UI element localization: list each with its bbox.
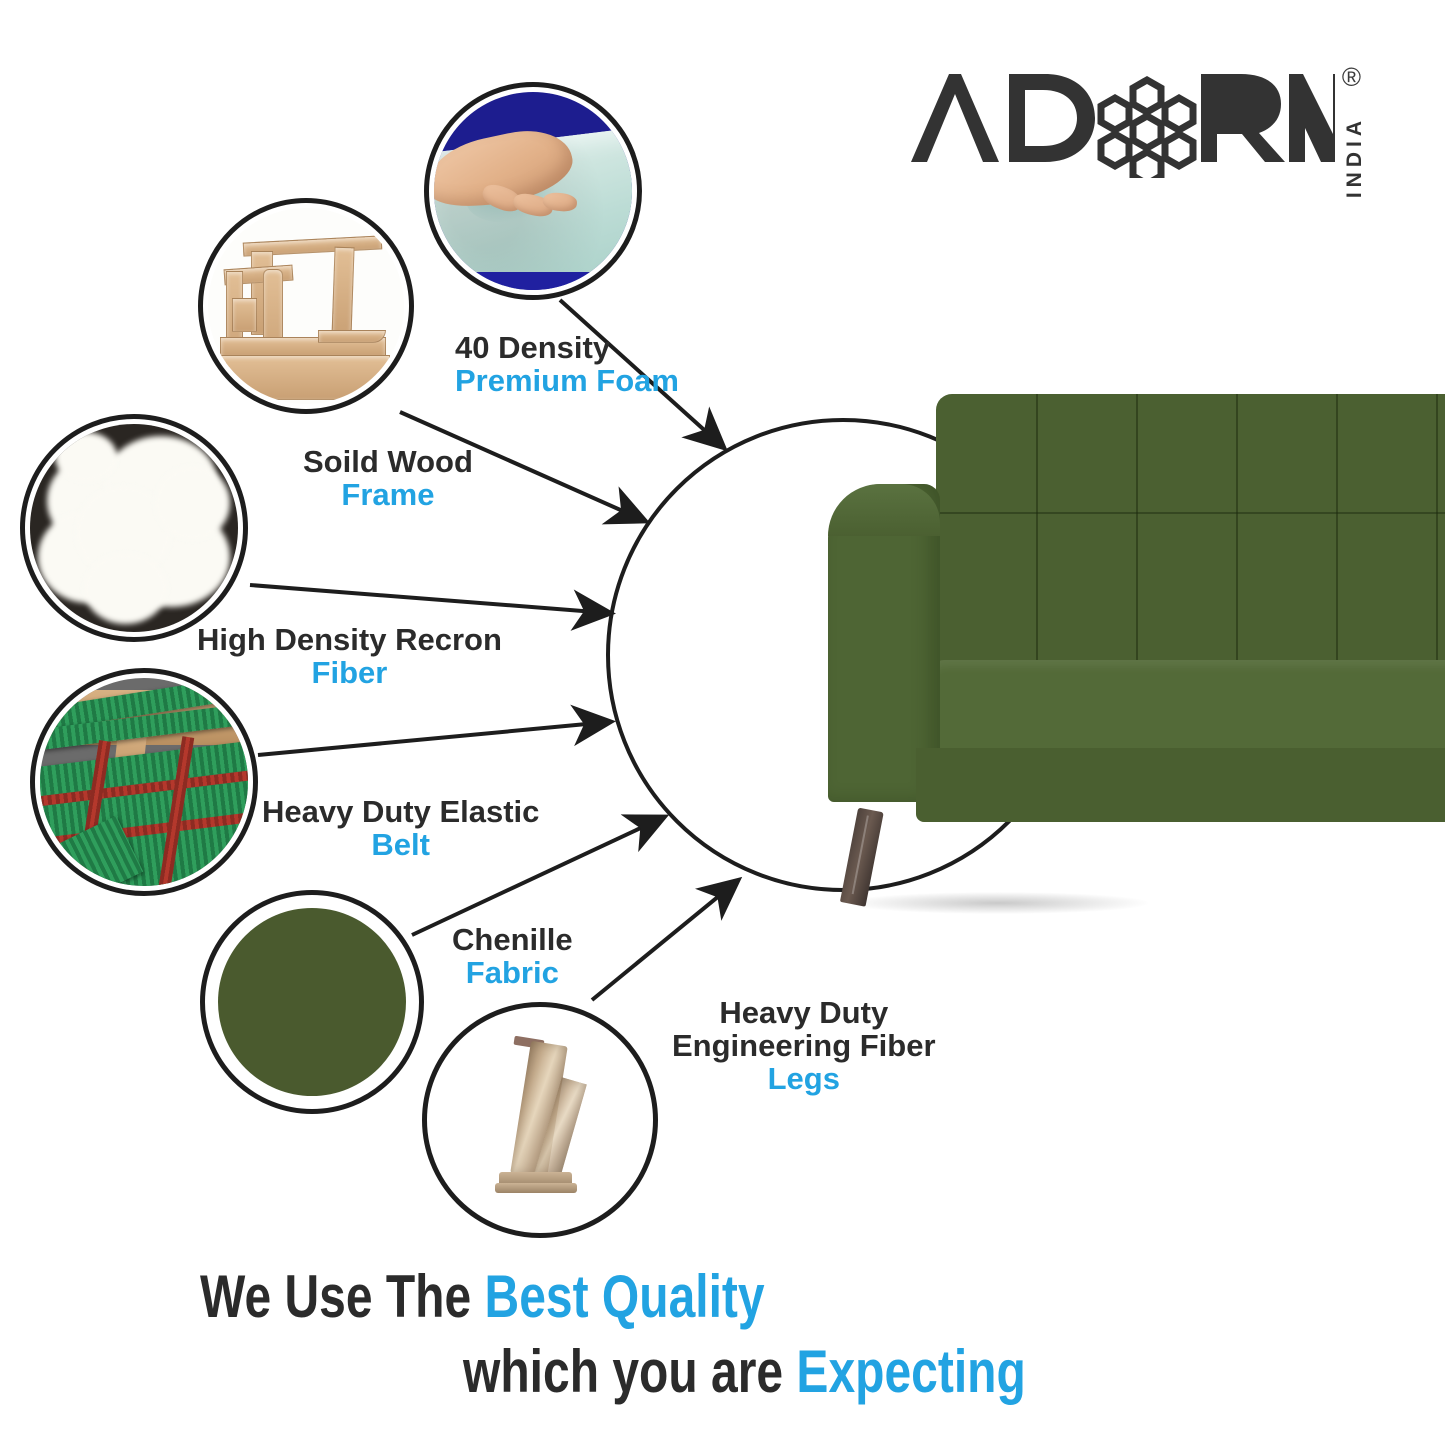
tagline-line-2-highlight: Expecting bbox=[796, 1338, 1025, 1405]
label-solid-wood-frame-highlight: Frame bbox=[303, 479, 473, 512]
label-premium-foam: 40 Density Premium Foam bbox=[455, 332, 679, 398]
infographic-canvas: INDIA ® bbox=[0, 0, 1445, 1445]
arrow-legs bbox=[592, 882, 736, 1000]
label-recron-fiber-line1: High Density Recron bbox=[197, 624, 502, 657]
label-solid-wood-frame-line1: Soild Wood bbox=[303, 446, 473, 479]
label-chenille-fabric-line1: Chenille bbox=[452, 924, 573, 957]
label-elastic-belt: Heavy Duty Elastic Belt bbox=[262, 796, 539, 862]
tagline-line-1: We Use The Best Quality bbox=[200, 1262, 765, 1331]
brand-logo: INDIA ® bbox=[905, 58, 1365, 208]
label-recron-fiber: High Density Recron Fiber bbox=[197, 624, 502, 690]
bubble-chenille-fabric bbox=[200, 890, 424, 1114]
adorn-wordmark-icon bbox=[905, 58, 1335, 178]
label-fiber-legs-highlight: Legs bbox=[672, 1063, 936, 1096]
label-chenille-fabric: Chenille Fabric bbox=[452, 924, 573, 990]
arrow-recron bbox=[250, 585, 608, 613]
tagline-line-2-plain: which you are bbox=[463, 1338, 796, 1405]
tagline-line-1-highlight: Best Quality bbox=[485, 1263, 765, 1330]
label-elastic-belt-highlight: Belt bbox=[262, 829, 539, 862]
label-premium-foam-highlight: Premium Foam bbox=[455, 365, 679, 398]
label-solid-wood-frame: Soild Wood Frame bbox=[303, 446, 473, 512]
label-recron-fiber-highlight: Fiber bbox=[197, 657, 502, 690]
bubble-premium-foam bbox=[424, 82, 642, 300]
logo-country-label: INDIA bbox=[1343, 116, 1367, 198]
label-chenille-fabric-highlight: Fabric bbox=[452, 957, 573, 990]
label-fiber-legs-line2: Engineering Fiber bbox=[672, 1030, 936, 1063]
fabric-color-swatch bbox=[218, 908, 406, 1096]
tagline-line-1-plain: We Use The bbox=[200, 1263, 485, 1330]
bubble-fiber-legs bbox=[422, 1002, 658, 1238]
product-sofa-image bbox=[818, 372, 1445, 902]
sofa-base bbox=[916, 748, 1445, 822]
tagline-line-2: which you are Expecting bbox=[463, 1337, 1026, 1406]
sofa-seat-cushion bbox=[930, 660, 1445, 758]
label-fiber-legs: Heavy Duty Engineering Fiber Legs bbox=[672, 997, 936, 1096]
registered-trademark-icon: ® bbox=[1342, 64, 1361, 90]
label-elastic-belt-line1: Heavy Duty Elastic bbox=[262, 796, 539, 829]
bubble-elastic-belt bbox=[30, 668, 258, 896]
bubble-recron-fiber bbox=[20, 414, 248, 642]
sofa-leg bbox=[840, 808, 884, 907]
bubble-solid-wood-frame bbox=[198, 198, 414, 414]
label-premium-foam-line1: 40 Density bbox=[455, 332, 679, 365]
arrow-belt bbox=[258, 722, 608, 755]
label-fiber-legs-line1: Heavy Duty bbox=[672, 997, 936, 1030]
